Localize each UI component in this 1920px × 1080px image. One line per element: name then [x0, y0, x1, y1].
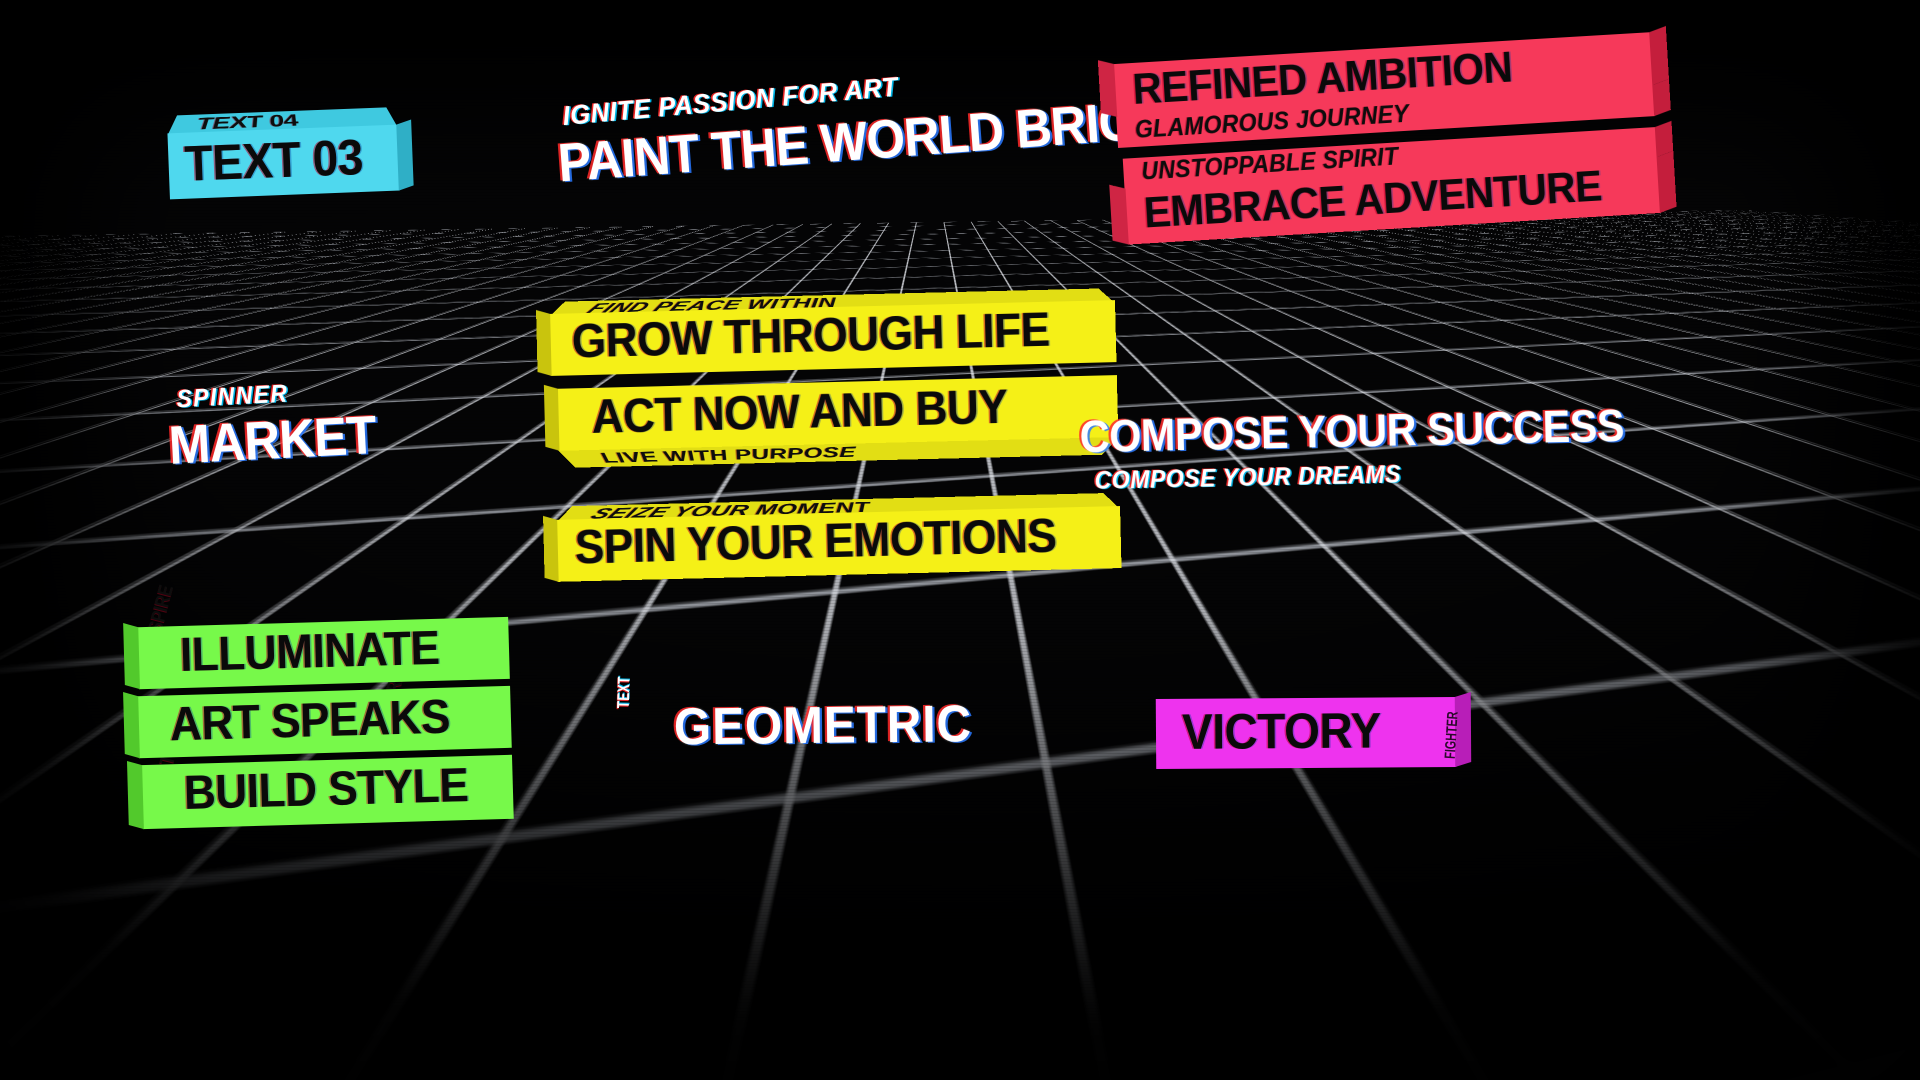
red-box-edge-1	[1650, 26, 1670, 85]
spinner-market-block[interactable]: SPINNER MARKET	[166, 376, 395, 473]
geometric-headline: GEOMETRIC	[674, 698, 973, 753]
yellow-slice-3-left-edge	[543, 516, 559, 582]
compose-your-success-block[interactable]: COMPOSE YOUR SUCCESS COMPOSE YOUR DREAMS	[1079, 402, 1672, 494]
victory-headline: VICTORY	[1182, 705, 1381, 756]
yellow-slice-3-front: SPIN YOUR EMOTIONS	[574, 513, 1057, 573]
spinner-headline: MARKET	[168, 408, 378, 473]
yellow-promo-stack[interactable]: FIND PEACE WITHIN GROW THROUGH LIFE ACT …	[548, 273, 1121, 582]
green-box-edge-2	[123, 692, 140, 758]
yellow-slice-1-front: GROW THROUGH LIFE	[571, 307, 1052, 367]
cyan-box-right-edge	[396, 119, 413, 190]
red-box-edge-4-left	[1109, 185, 1129, 245]
compose-headline: COMPOSE YOUR SUCCESS	[1079, 403, 1624, 459]
scene-canvas: TEXT 04 TEXT 03 IGNITE PASSION FOR ART P…	[0, 0, 1920, 1080]
green-box-line-3: BUILD STYLE	[183, 762, 469, 818]
illuminate-art-build-box[interactable]: INSPIRE EXPRESS CREATE ILLUMINATE ART SP…	[137, 617, 514, 829]
green-box-edge-3	[127, 761, 144, 829]
yellow-slice-2-front: ACT NOW AND BUY	[591, 383, 1055, 442]
yellow-slice-1-left-edge	[536, 310, 552, 376]
red-box-edge-2	[1653, 79, 1672, 116]
refined-ambition-box[interactable]: REFINED AMBITION GLAMOROUS JOURNEY UNSTO…	[1113, 32, 1661, 245]
victory-box[interactable]: VICTORY FIGHTER	[1156, 697, 1456, 769]
green-box-line-1: ILLUMINATE	[179, 624, 465, 680]
yellow-slice-2-left-edge	[544, 385, 560, 451]
text-03-04-box[interactable]: TEXT 04 TEXT 03	[166, 92, 399, 200]
geometric-side-tag: TEXT	[614, 676, 635, 708]
victory-side-tag: FIGHTER	[1443, 711, 1461, 759]
red-box-edge-1-left	[1098, 60, 1117, 117]
geometric-block[interactable]: TEXT GEOMETRIC	[612, 698, 998, 754]
cyan-box-front-label: TEXT 03	[184, 132, 364, 189]
green-box-edge-1	[123, 623, 140, 689]
green-box-line-2: ART SPEAKS	[169, 693, 466, 749]
